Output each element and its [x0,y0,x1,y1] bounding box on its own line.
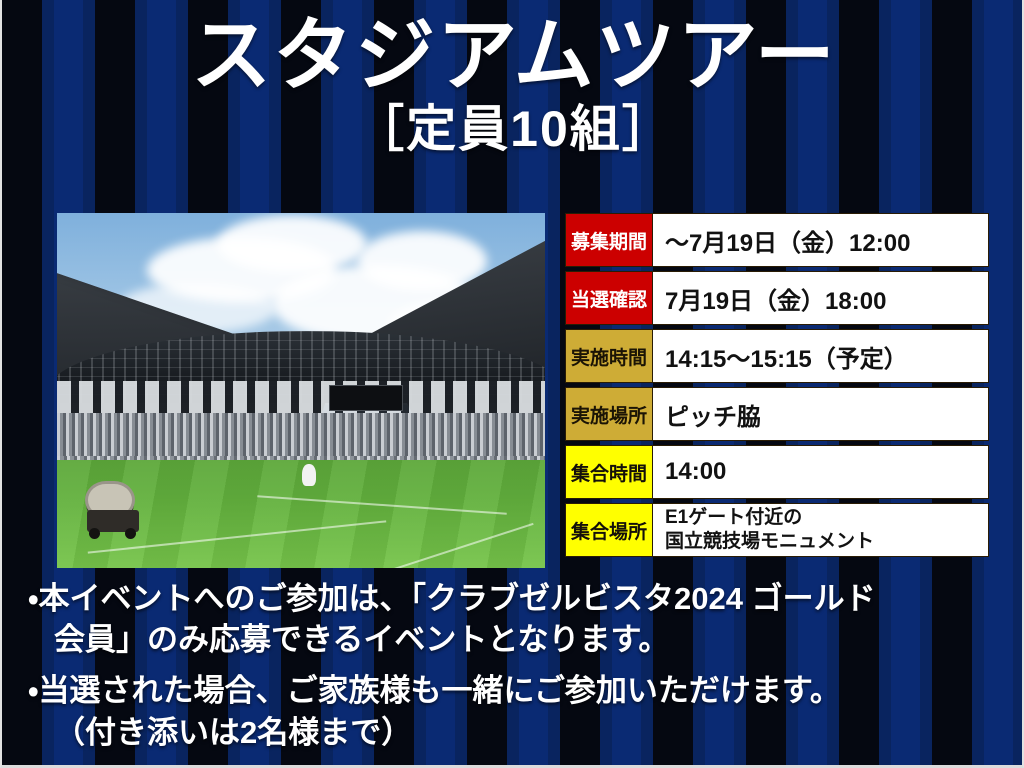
row-value-meeting-time: 14:00 [653,445,989,499]
note-line: （付き添いは2名様まで） [28,712,1003,753]
row-value-event-time: 14:15～15:15（予定） [653,329,989,383]
note-line: ・当選された場合、ご家族様も一緒にご参加いただけます。 [28,670,1003,711]
page-title: スタジアムツアー [2,0,1024,98]
capacity-subtitle: ［定員10組］ [2,98,1024,157]
value-line: 7月19日（金）18:00 [665,281,988,316]
stadium-photo [57,213,545,568]
pitch-fan-wheel [89,528,100,539]
table-row: 実施場所 ピッチ脇 [565,387,989,441]
pitch-fan-wheel [125,528,136,539]
stadium-tour-poster: スタジアムツアー ［定員10組］ 募集期間 [0,0,1024,768]
event-details-table: 募集期間 ～7月19日（金）12:00 当選確認 7月19日（金）18:00 実… [565,213,989,561]
value-line: 14:00 [665,458,988,486]
table-row: 集合場所 E1ゲート付近の 国立競技場モニュメント [565,503,989,557]
row-label-event-time: 実施時間 [565,329,653,383]
note-line: ・本イベントへのご参加は、「クラブゼルビスタ2024 ゴールド [28,578,1003,619]
row-value-meeting-place: E1ゲート付近の 国立競技場モニュメント [653,503,989,557]
row-label-result-announcement: 当選確認 [565,271,653,325]
note-membership: ・本イベントへのご参加は、「クラブゼルビスタ2024 ゴールド 会員」のみ応募で… [28,578,1003,660]
scoreboard [329,385,403,411]
value-line: ピッチ脇 [665,397,988,432]
table-row: 募集期間 ～7月19日（金）12:00 [565,213,989,267]
notes-block: ・本イベントへのご参加は、「クラブゼルビスタ2024 ゴールド 会員」のみ応募で… [28,578,1003,763]
table-row: 集合時間 14:00 [565,445,989,499]
row-label-event-venue: 実施場所 [565,387,653,441]
note-line: 会員」のみ応募できるイベントとなります。 [28,619,1003,660]
row-label-meeting-time: 集合時間 [565,445,653,499]
row-value-result-announcement: 7月19日（金）18:00 [653,271,989,325]
table-row: 実施時間 14:15～15:15（予定） [565,329,989,383]
groundskeeper-figure [302,464,316,486]
note-companions: ・当選された場合、ご家族様も一緒にご参加いただけます。 （付き添いは2名様まで） [28,670,1003,752]
row-label-meeting-place: 集合場所 [565,503,653,557]
title-block: スタジアムツアー ［定員10組］ [2,0,1024,157]
cloud-shape [217,215,367,273]
value-line: E1ゲート付近の [665,506,988,530]
row-value-entry-period: ～7月19日（金）12:00 [653,213,989,267]
row-value-event-venue: ピッチ脇 [653,387,989,441]
value-line: 国立競技場モニュメント [665,530,988,554]
row-label-entry-period: 募集期間 [565,213,653,267]
table-row: 当選確認 7月19日（金）18:00 [565,271,989,325]
value-line: ～7月19日（金）12:00 [665,223,988,258]
value-line: 14:15～15:15（予定） [665,339,988,374]
